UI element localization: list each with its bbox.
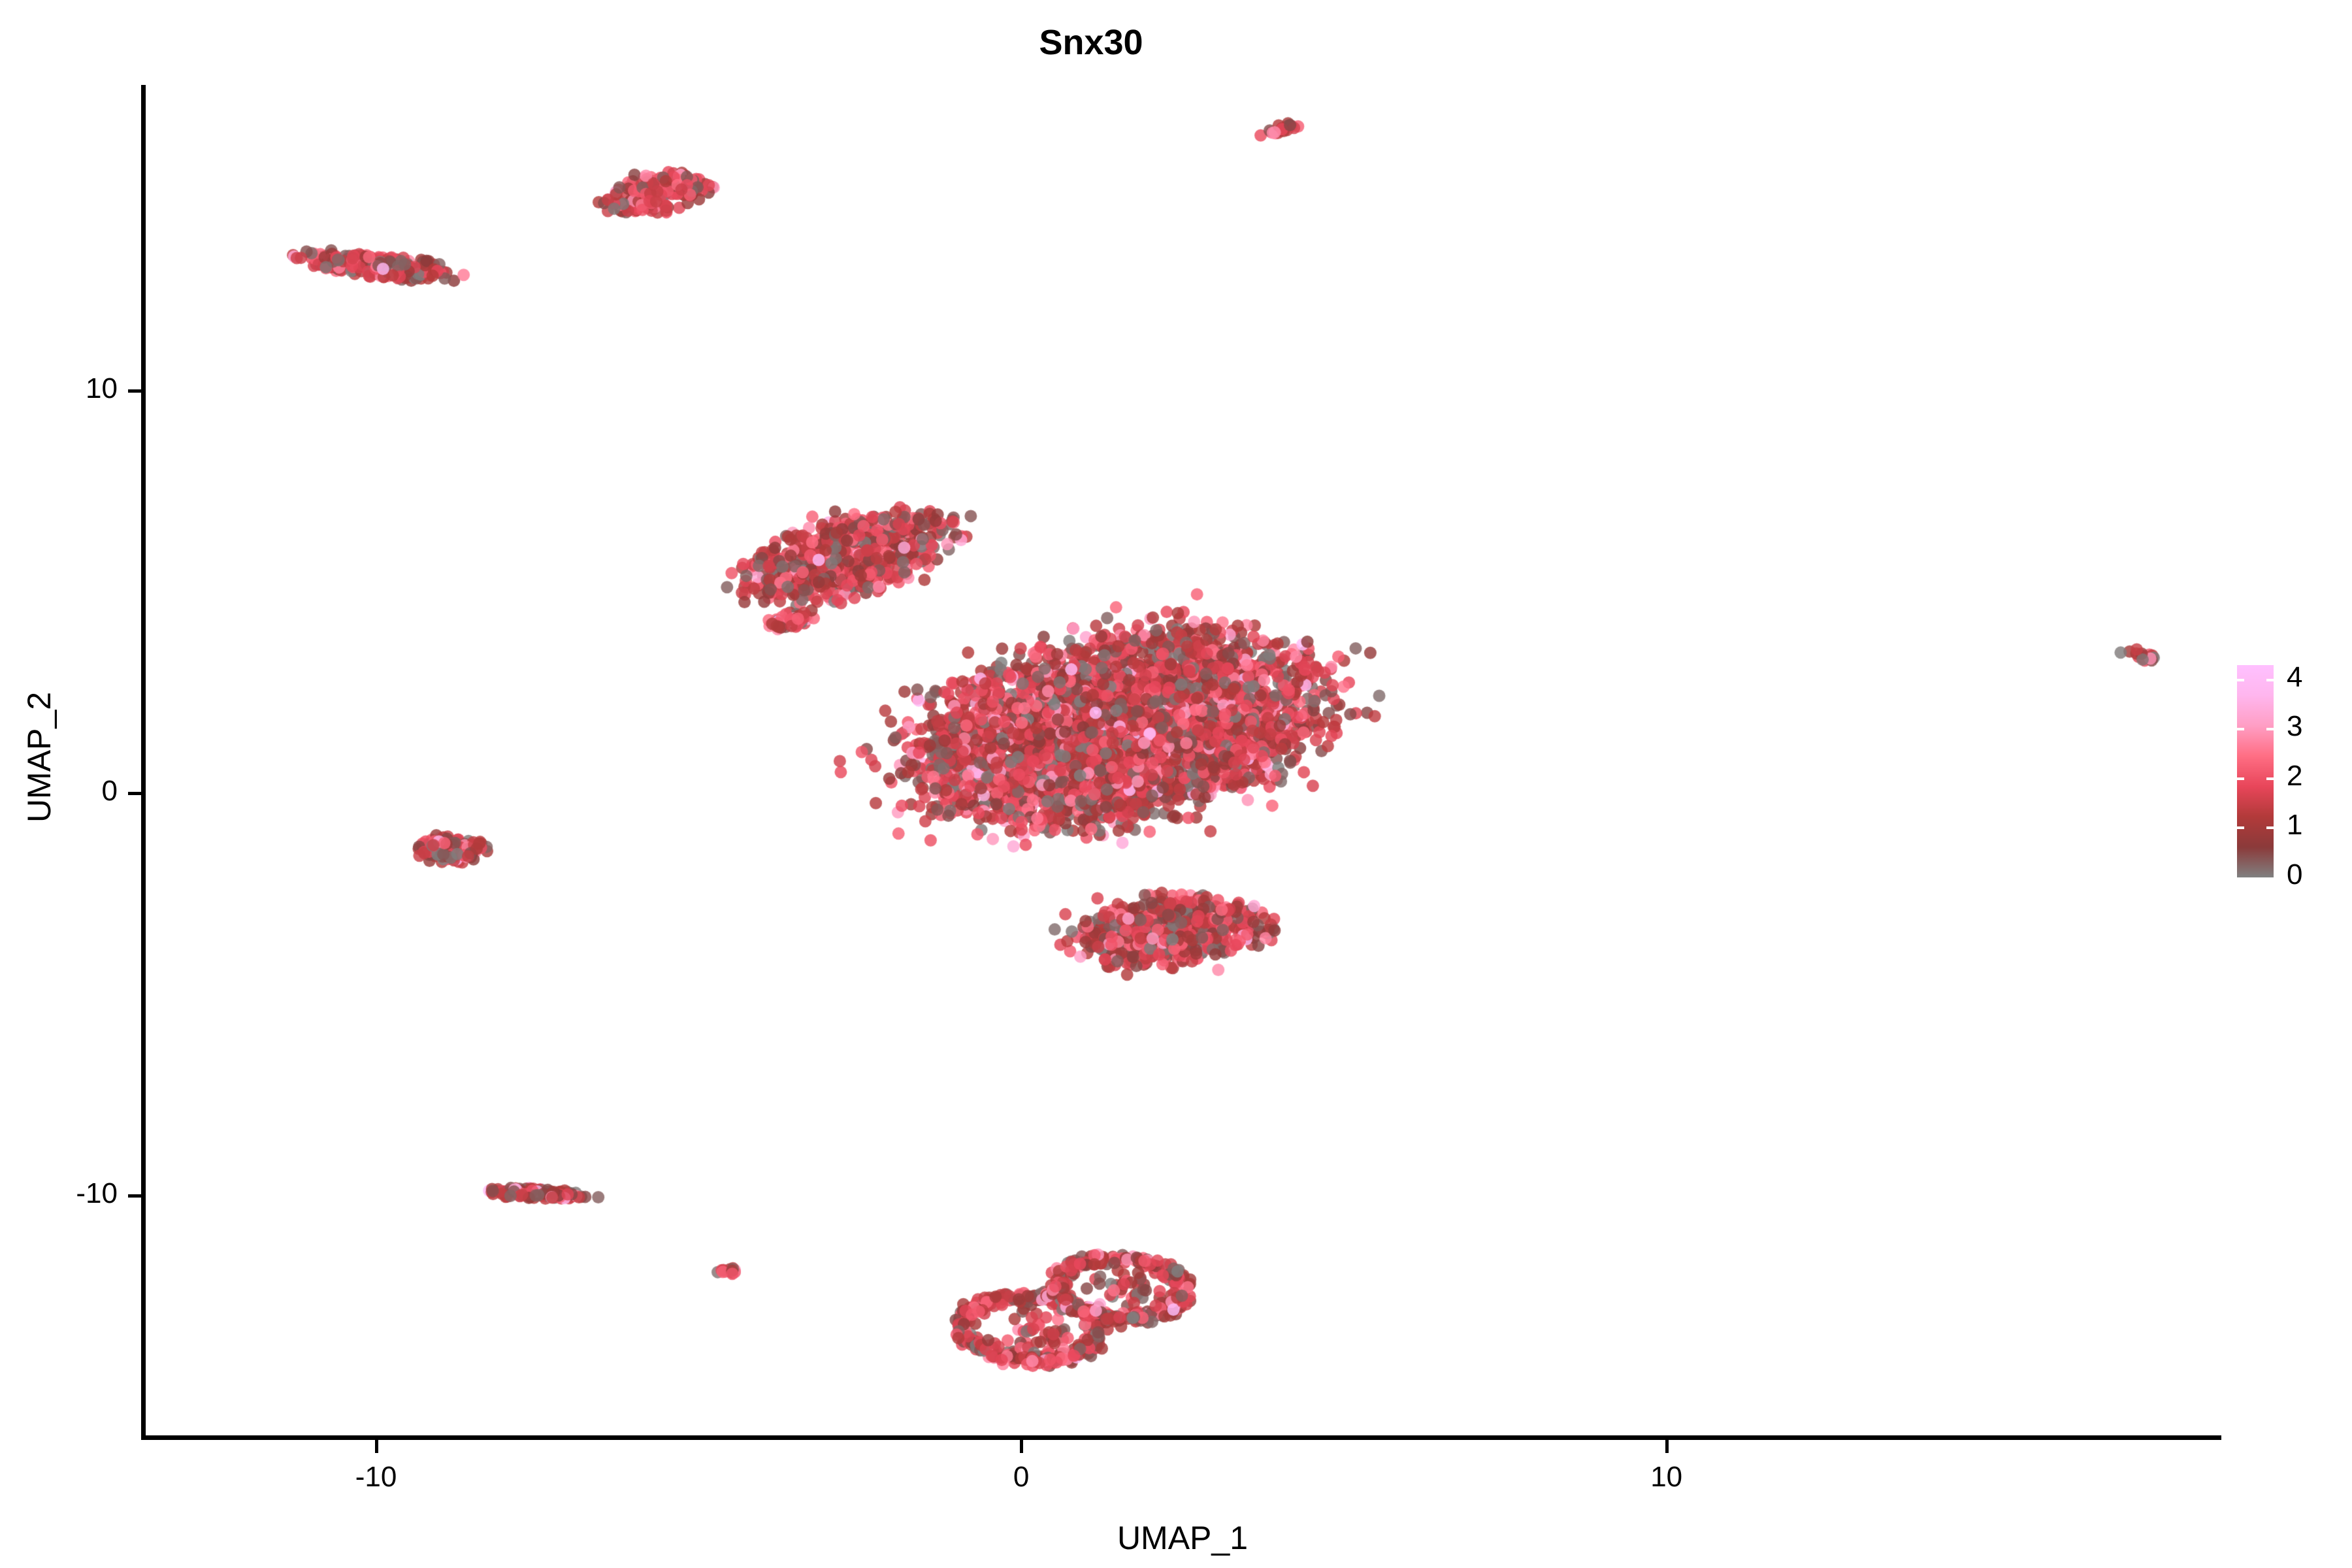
legend-tick-mark: [2266, 728, 2274, 730]
page-title: Snx30: [0, 22, 2182, 63]
legend-tick-mark: [2266, 777, 2274, 780]
x-tick-mark: [375, 1440, 378, 1453]
plot-panel: [144, 85, 2221, 1437]
color-legend: 01234: [2237, 665, 2348, 887]
y-axis-line: [141, 85, 146, 1439]
legend-tick-mark: [2266, 679, 2274, 681]
legend-tick-mark: [2237, 777, 2244, 780]
legend-tick-mark: [2237, 679, 2244, 681]
x-axis-title: UMAP_1: [144, 1519, 2221, 1557]
y-tick-label: 10: [7, 372, 118, 405]
x-tick-mark: [1665, 1440, 1669, 1453]
feature-plot-figure: Snx30 -10010-10010 UMAP_1 UMAP_2 01234: [0, 0, 2352, 1568]
legend-tick-label: 1: [2287, 811, 2302, 840]
legend-tick-mark: [2237, 728, 2244, 730]
y-tick-label: -10: [7, 1177, 118, 1210]
y-tick-mark: [128, 389, 141, 393]
legend-tick-label: 0: [2287, 860, 2302, 889]
legend-colorbar: [2237, 665, 2274, 877]
legend-tick-mark: [2237, 826, 2244, 829]
x-axis-line: [141, 1435, 2221, 1440]
x-tick-mark: [1020, 1440, 1023, 1453]
legend-tick-label: 3: [2287, 712, 2302, 741]
legend-tick-mark: [2266, 826, 2274, 829]
x-tick-label: -10: [311, 1461, 442, 1494]
x-tick-label: 0: [956, 1461, 1086, 1494]
y-tick-mark: [128, 1194, 141, 1198]
scatter-points-canvas: [144, 85, 2221, 1437]
x-tick-label: 10: [1601, 1461, 1732, 1494]
legend-tick-label: 2: [2287, 762, 2302, 791]
y-tick-mark: [128, 792, 141, 795]
y-axis-title: UMAP_2: [20, 431, 58, 1084]
legend-tick-label: 4: [2287, 663, 2302, 692]
